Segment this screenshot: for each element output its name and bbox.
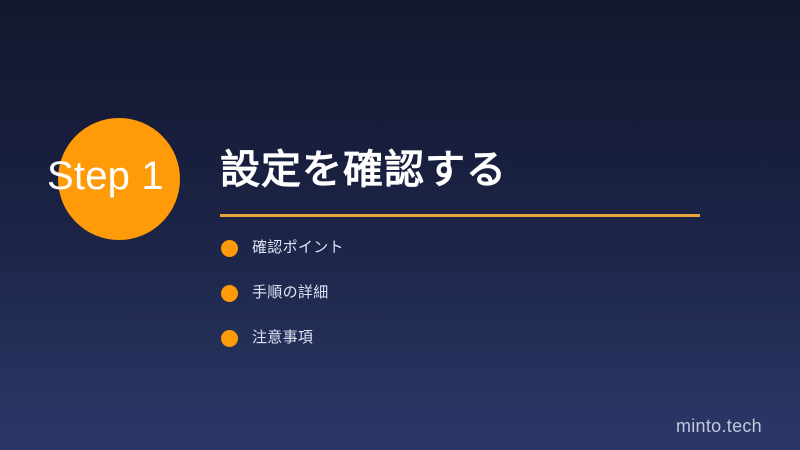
title-divider	[220, 214, 700, 217]
list-item-label: 確認ポイント	[252, 238, 344, 258]
list-item-label: 注意事項	[252, 328, 313, 348]
page-title: 設定を確認する	[220, 145, 720, 195]
list-item-label: 手順の詳細	[252, 283, 329, 303]
list-item: 手順の詳細	[221, 283, 701, 303]
list-item: 注意事項	[221, 328, 701, 348]
bullet-dot-icon	[221, 330, 238, 347]
bullet-list: 確認ポイント 手順の詳細 注意事項	[221, 238, 701, 373]
list-item: 確認ポイント	[221, 238, 701, 258]
bullet-dot-icon	[221, 240, 238, 257]
footer-brand-label: minto.tech	[676, 416, 762, 437]
title-block: 設定を確認する	[220, 145, 720, 195]
step-number-label: Step 1	[47, 152, 227, 200]
bullet-dot-icon	[221, 285, 238, 302]
slide-canvas: Step 1 設定を確認する 確認ポイント 手順の詳細 注意事項 minto.t…	[0, 0, 800, 450]
